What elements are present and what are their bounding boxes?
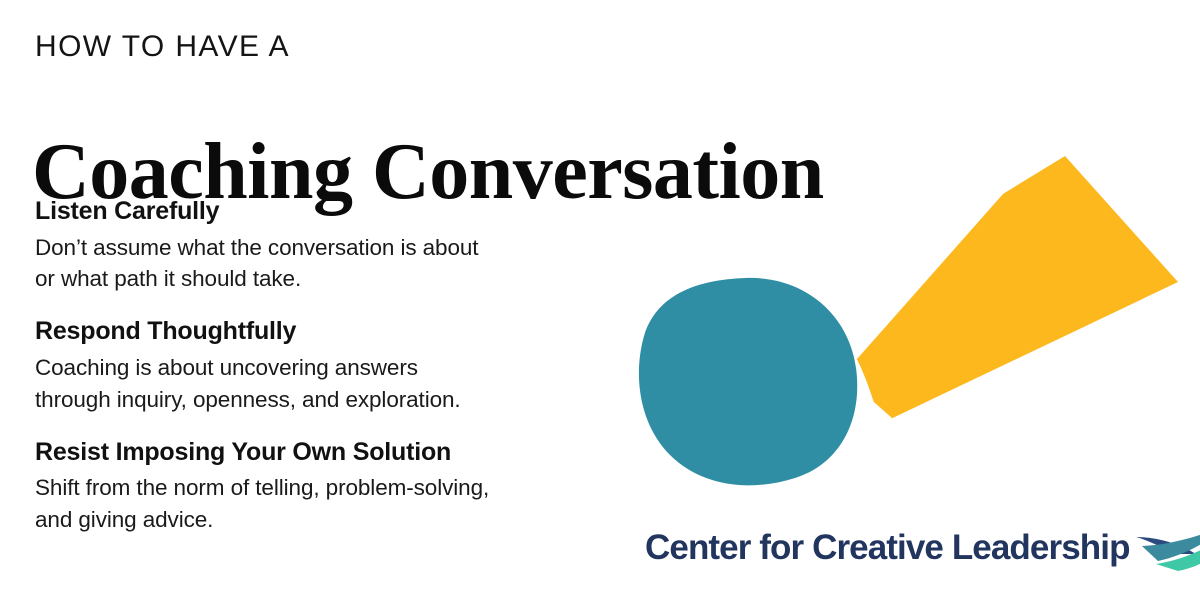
tip-body-line: Shift from the norm of telling, problem-… (35, 472, 635, 504)
list-item: Listen Carefully Don’t assume what the c… (35, 196, 635, 295)
tip-body: Coaching is about uncovering answers thr… (35, 352, 635, 416)
ccl-logo: Center for Creative Leadership (645, 520, 1200, 574)
tip-title: Listen Carefully (35, 196, 635, 227)
tip-title: Resist Imposing Your Own Solution (35, 437, 635, 468)
teal-blob-shape (639, 278, 857, 485)
tip-title: Respond Thoughtfully (35, 316, 635, 347)
ccl-wordmark: Center for Creative Leadership (645, 530, 1130, 565)
tips-list: Listen Carefully Don’t assume what the c… (35, 196, 635, 536)
eyebrow-text: HOW TO HAVE A (35, 32, 290, 62)
list-item: Respond Thoughtfully Coaching is about u… (35, 316, 635, 415)
yellow-rotated-rectangle-shape (843, 113, 1200, 541)
tip-body-line: through inquiry, openness, and explorati… (35, 384, 635, 416)
tip-body-line: and giving advice. (35, 504, 635, 536)
tip-body: Shift from the norm of telling, problem-… (35, 472, 635, 536)
tip-body: Don’t assume what the conversation is ab… (35, 232, 635, 296)
ccl-swoosh-icon (1134, 521, 1200, 573)
tip-body-line: or what path it should take. (35, 263, 635, 295)
infographic-canvas: HOW TO HAVE A Coaching Conversation List… (0, 0, 1200, 600)
list-item: Resist Imposing Your Own Solution Shift … (35, 437, 635, 536)
tip-body-line: Coaching is about uncovering answers (35, 352, 635, 384)
tip-body-line: Don’t assume what the conversation is ab… (35, 232, 635, 264)
